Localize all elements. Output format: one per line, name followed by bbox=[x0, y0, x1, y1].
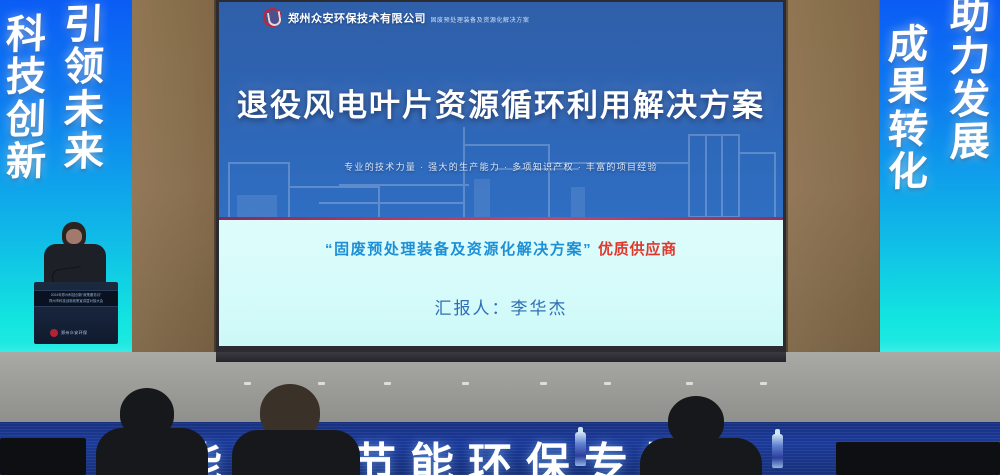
screen-base-trim bbox=[216, 352, 786, 362]
podium-logo-icon bbox=[50, 329, 58, 337]
slide-header-panel: 郑州众安环保技术有限公司 固废预处理装备及资源化解决方案 退役风电叶片资源循环利… bbox=[219, 2, 783, 217]
foreground-table bbox=[0, 438, 86, 475]
left-banner-column-2: 引领未来 bbox=[64, 4, 104, 174]
slide-company-logo: 郑州众安环保技术有限公司 固废预处理装备及资源化解决方案 bbox=[263, 8, 529, 27]
quote-main-text: “固废预处理装备及资源化解决方案” bbox=[325, 241, 592, 258]
right-led-banner: 成果转化 助力发展 bbox=[880, 0, 1000, 378]
podium-banner: 2024年郑州科技创新“政策服务月” 郑州市科技创新政策宣讲暨对接大会 bbox=[34, 290, 118, 307]
banner-char: 领 bbox=[63, 46, 105, 90]
banner-char: 科 bbox=[5, 13, 47, 57]
left-banner-column-1: 科技创新 bbox=[6, 14, 46, 184]
banner-char: 新 bbox=[5, 140, 47, 184]
audience-shoulders bbox=[232, 430, 360, 475]
banner-char: 发 bbox=[949, 78, 991, 122]
company-name: 郑州众安环保技术有限公司 bbox=[288, 13, 426, 25]
projection-screen-frame: 郑州众安环保技术有限公司 固废预处理装备及资源化解决方案 退役风电叶片资源循环利… bbox=[216, 0, 786, 352]
shield-logo-icon bbox=[263, 8, 282, 27]
audience-member bbox=[232, 384, 358, 475]
slide-presenter: 汇报人：李华杰 bbox=[219, 294, 783, 319]
speaker-podium-group: 2024年郑州科技创新“政策服务月” 郑州市科技创新政策宣讲暨对接大会 郑州众安… bbox=[18, 222, 128, 344]
banner-char: 果 bbox=[887, 66, 929, 110]
slide-quote-line: “固废预处理装备及资源化解决方案” 优质供应商 bbox=[219, 238, 783, 259]
banner-char: 力 bbox=[949, 36, 991, 80]
audience-shoulders bbox=[96, 428, 208, 475]
podium-logo-label: 郑州众安环保 bbox=[61, 330, 87, 336]
audience-member bbox=[640, 396, 760, 475]
quote-accent-text: 优质供应商 bbox=[598, 241, 677, 258]
speaker-face bbox=[66, 229, 82, 244]
water-bottle bbox=[575, 432, 586, 466]
banner-char: 成 bbox=[887, 23, 929, 67]
slide-title: 退役风电叶片资源循环利用解决方案 bbox=[219, 80, 783, 125]
water-bottle bbox=[772, 434, 783, 468]
banner-char: 技 bbox=[5, 56, 47, 100]
right-banner-column-2: 助力发展 bbox=[950, 0, 990, 164]
banner-char: 未 bbox=[63, 88, 105, 132]
banner-char: 助 bbox=[949, 0, 991, 37]
banner-char: 化 bbox=[887, 150, 929, 194]
presentation-slide: 郑州众安环保技术有限公司 固废预处理装备及资源化解决方案 退役风电叶片资源循环利… bbox=[219, 2, 783, 346]
audience-shoulders bbox=[640, 438, 762, 475]
banner-char: 展 bbox=[949, 120, 991, 164]
podium-logo: 郑州众安环保 bbox=[50, 329, 87, 337]
banner-char: 来 bbox=[63, 130, 105, 174]
audience-member bbox=[96, 388, 206, 475]
slide-subtitle: 专业的技术力量 · 强大的生产能力 · 多项知识产权 · 丰富的项目经验 bbox=[219, 160, 783, 173]
podium: 2024年郑州科技创新“政策服务月” 郑州市科技创新政策宣讲暨对接大会 郑州众安… bbox=[34, 282, 118, 344]
logo-text-block: 郑州众安环保技术有限公司 固废预处理装备及资源化解决方案 bbox=[288, 9, 529, 26]
banner-char: 转 bbox=[887, 108, 929, 152]
podium-banner-line-2: 郑州市科技创新政策宣讲暨对接大会 bbox=[49, 299, 103, 304]
foreground-table bbox=[836, 442, 1000, 475]
banner-char: 创 bbox=[5, 98, 47, 142]
banner-char: 引 bbox=[63, 3, 105, 47]
right-banner-column-1: 成果转化 bbox=[888, 24, 928, 194]
company-tagline: 固废预处理装备及资源化解决方案 bbox=[430, 18, 529, 24]
conference-stage-photo: 科技创新 引领未来 成果转化 助力发展 bbox=[0, 0, 1000, 475]
